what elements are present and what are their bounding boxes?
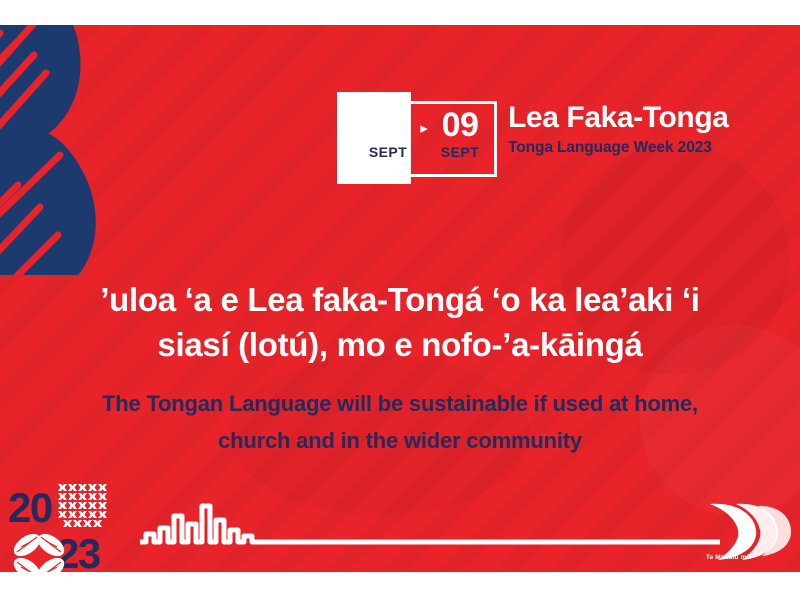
date-start-day: 03: [370, 107, 407, 143]
date-start-month: SEPT: [369, 145, 407, 160]
title-subtitle: Tonga Language Week 2023: [508, 138, 798, 157]
leaf-motif-icon: [0, 25, 168, 275]
title-main: Lea Faka-Tonga: [508, 101, 798, 135]
audio-waveform-icon: [140, 500, 720, 570]
headline-line-1: ’uloa ‘a e Lea faka-Tongá ‘o ka lea’aki …: [0, 277, 800, 322]
date-range-block: 03 SEPT ▸ 09 SEPT: [337, 92, 497, 184]
date-end: 09 SEPT: [431, 101, 489, 160]
date-box-content: 03 SEPT ▸ 09 SEPT: [351, 101, 497, 177]
headline-line-2: siasí (lotú), mo e nofo-’a-kāingá: [0, 322, 800, 367]
date-end-day: 09: [442, 107, 479, 143]
banner-poster: 03 SEPT ▸ 09 SEPT Lea Faka-Tonga Tonga L…: [0, 0, 800, 600]
flower-motif-icon: [10, 530, 68, 572]
plw-year-first: 20: [8, 486, 52, 530]
subheadline-line-2: church and in the wider community: [0, 422, 800, 459]
date-start: 03 SEPT: [359, 101, 417, 160]
headline-tongan: ’uloa ‘a e Lea faka-Tongá ‘o ka lea’aki …: [0, 277, 800, 367]
date-end-month: SEPT: [441, 145, 479, 160]
date-range-arrow-icon: ▸: [417, 111, 431, 147]
ministry-logo-caption: Te Manatū mō: [706, 554, 790, 562]
subheadline-line-1: The Tongan Language will be sustainable …: [0, 385, 800, 422]
footer-row: C E S 20 23: [0, 480, 800, 572]
tapa-grid-icon: [58, 484, 108, 528]
poster-red-area: 03 SEPT ▸ 09 SEPT Lea Faka-Tonga Tonga L…: [0, 25, 800, 572]
pacific-language-weeks-logo: C E S 20 23: [0, 480, 132, 572]
subheadline-english: The Tongan Language will be sustainable …: [0, 385, 800, 459]
title-lockup: Lea Faka-Tonga Tonga Language Week 2023: [508, 101, 798, 157]
